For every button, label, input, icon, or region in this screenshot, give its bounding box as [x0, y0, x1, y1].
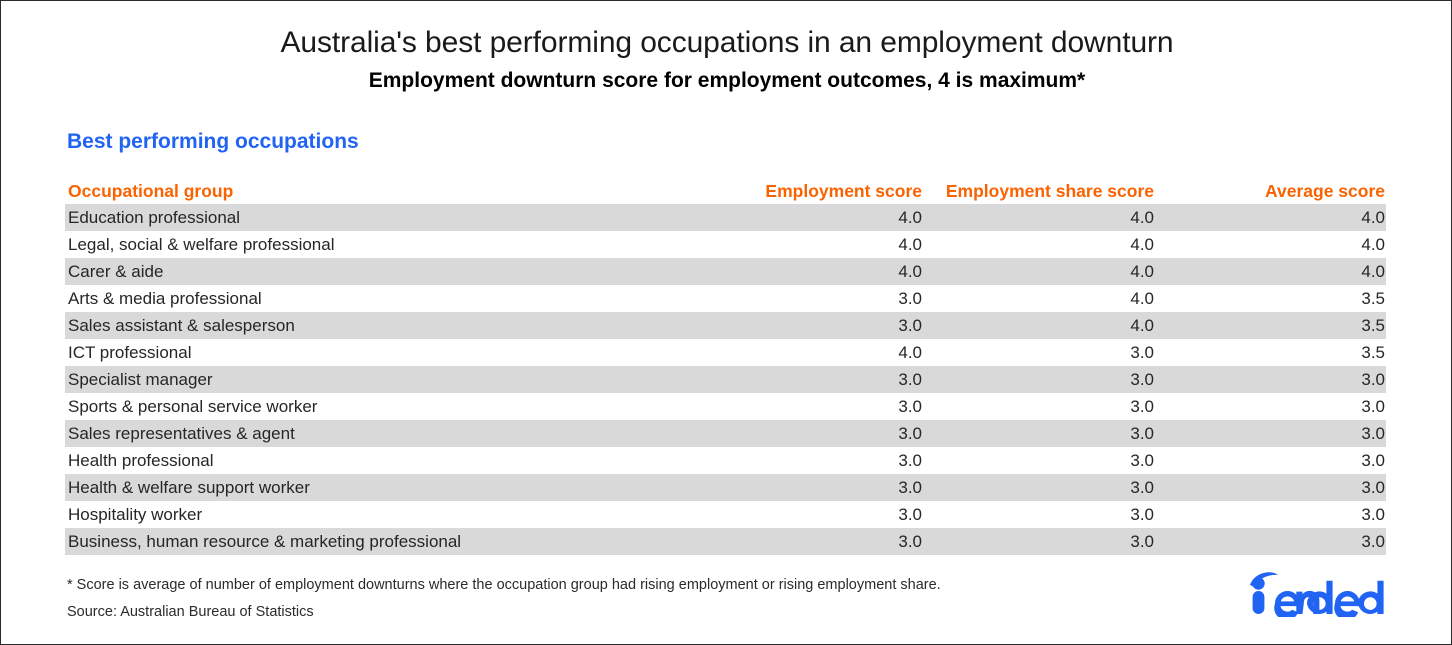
cell-employment-score: 3.0: [690, 316, 922, 336]
cell-occupational-group: ICT professional: [65, 343, 690, 363]
cell-employment-share-score: 4.0: [922, 316, 1154, 336]
table-row: Arts & media professional3.04.03.5: [65, 285, 1386, 312]
cell-average-score: 3.5: [1154, 289, 1386, 309]
cell-occupational-group: Sales assistant & salesperson: [65, 316, 690, 336]
source-text: Source: Australian Bureau of Statistics: [67, 604, 314, 620]
cell-occupational-group: Hospitality worker: [65, 505, 690, 525]
table-row: ICT professional4.03.03.5: [65, 339, 1386, 366]
column-header-occupational-group: Occupational group: [65, 181, 690, 202]
table-row: Carer & aide4.04.04.0: [65, 258, 1386, 285]
cell-average-score: 3.5: [1154, 343, 1386, 363]
table-row: Health & welfare support worker3.03.03.0: [65, 474, 1386, 501]
cell-average-score: 4.0: [1154, 208, 1386, 228]
cell-employment-share-score: 3.0: [922, 451, 1154, 471]
table-row: Health professional3.03.03.0: [65, 447, 1386, 474]
cell-employment-share-score: 3.0: [922, 370, 1154, 390]
cell-employment-score: 4.0: [690, 235, 922, 255]
cell-employment-share-score: 3.0: [922, 424, 1154, 444]
cell-average-score: 3.0: [1154, 451, 1386, 471]
table-row: Specialist manager3.03.03.0: [65, 366, 1386, 393]
cell-employment-share-score: 4.0: [922, 289, 1154, 309]
table-row: Hospitality worker3.03.03.0: [65, 501, 1386, 528]
table-row: Sales representatives & agent3.03.03.0: [65, 420, 1386, 447]
table-row: Legal, social & welfare professional4.04…: [65, 231, 1386, 258]
cell-occupational-group: Health & welfare support worker: [65, 478, 690, 498]
cell-average-score: 3.0: [1154, 505, 1386, 525]
cell-occupational-group: Health professional: [65, 451, 690, 471]
cell-employment-score: 3.0: [690, 532, 922, 552]
cell-employment-share-score: 4.0: [922, 235, 1154, 255]
indeed-logo: [1244, 569, 1389, 617]
cell-average-score: 3.0: [1154, 424, 1386, 444]
cell-occupational-group: Arts & media professional: [65, 289, 690, 309]
cell-employment-share-score: 3.0: [922, 397, 1154, 417]
cell-occupational-group: Sales representatives & agent: [65, 424, 690, 444]
cell-employment-share-score: 3.0: [922, 343, 1154, 363]
cell-average-score: 4.0: [1154, 262, 1386, 282]
cell-employment-share-score: 4.0: [922, 208, 1154, 228]
cell-average-score: 3.5: [1154, 316, 1386, 336]
cell-employment-share-score: 4.0: [922, 262, 1154, 282]
footnote-text: * Score is average of number of employme…: [67, 577, 941, 593]
cell-employment-score: 4.0: [690, 262, 922, 282]
cell-average-score: 4.0: [1154, 235, 1386, 255]
cell-employment-score: 3.0: [690, 397, 922, 417]
cell-occupational-group: Carer & aide: [65, 262, 690, 282]
cell-employment-score: 3.0: [690, 505, 922, 525]
table-header-row: Occupational group Employment score Empl…: [65, 178, 1386, 204]
cell-employment-score: 3.0: [690, 424, 922, 444]
table-row: Sales assistant & salesperson3.04.03.5: [65, 312, 1386, 339]
cell-average-score: 3.0: [1154, 532, 1386, 552]
column-header-average-score: Average score: [1154, 181, 1386, 202]
cell-employment-score: 3.0: [690, 370, 922, 390]
cell-occupational-group: Legal, social & welfare professional: [65, 235, 690, 255]
column-header-employment-share-score: Employment share score: [922, 181, 1154, 202]
table-row: Sports & personal service worker3.03.03.…: [65, 393, 1386, 420]
cell-employment-share-score: 3.0: [922, 505, 1154, 525]
table-row: Business, human resource & marketing pro…: [65, 528, 1386, 555]
page-subtitle: Employment downturn score for employment…: [1, 69, 1452, 93]
table-row: Education professional4.04.04.0: [65, 204, 1386, 231]
page-title: Australia's best performing occupations …: [1, 26, 1452, 60]
column-header-employment-score: Employment score: [690, 181, 922, 202]
scores-table: Occupational group Employment score Empl…: [65, 178, 1386, 555]
cell-occupational-group: Specialist manager: [65, 370, 690, 390]
table-body: Education professional4.04.04.0Legal, so…: [65, 204, 1386, 555]
cell-employment-share-score: 3.0: [922, 478, 1154, 498]
cell-average-score: 3.0: [1154, 397, 1386, 417]
cell-employment-score: 3.0: [690, 451, 922, 471]
cell-employment-share-score: 3.0: [922, 532, 1154, 552]
infographic-canvas: Australia's best performing occupations …: [0, 0, 1452, 645]
cell-employment-score: 4.0: [690, 343, 922, 363]
cell-occupational-group: Education professional: [65, 208, 690, 228]
cell-employment-score: 3.0: [690, 289, 922, 309]
cell-average-score: 3.0: [1154, 478, 1386, 498]
cell-occupational-group: Business, human resource & marketing pro…: [65, 532, 690, 552]
section-heading: Best performing occupations: [67, 130, 359, 154]
cell-employment-score: 4.0: [690, 208, 922, 228]
cell-average-score: 3.0: [1154, 370, 1386, 390]
cell-occupational-group: Sports & personal service worker: [65, 397, 690, 417]
cell-employment-score: 3.0: [690, 478, 922, 498]
